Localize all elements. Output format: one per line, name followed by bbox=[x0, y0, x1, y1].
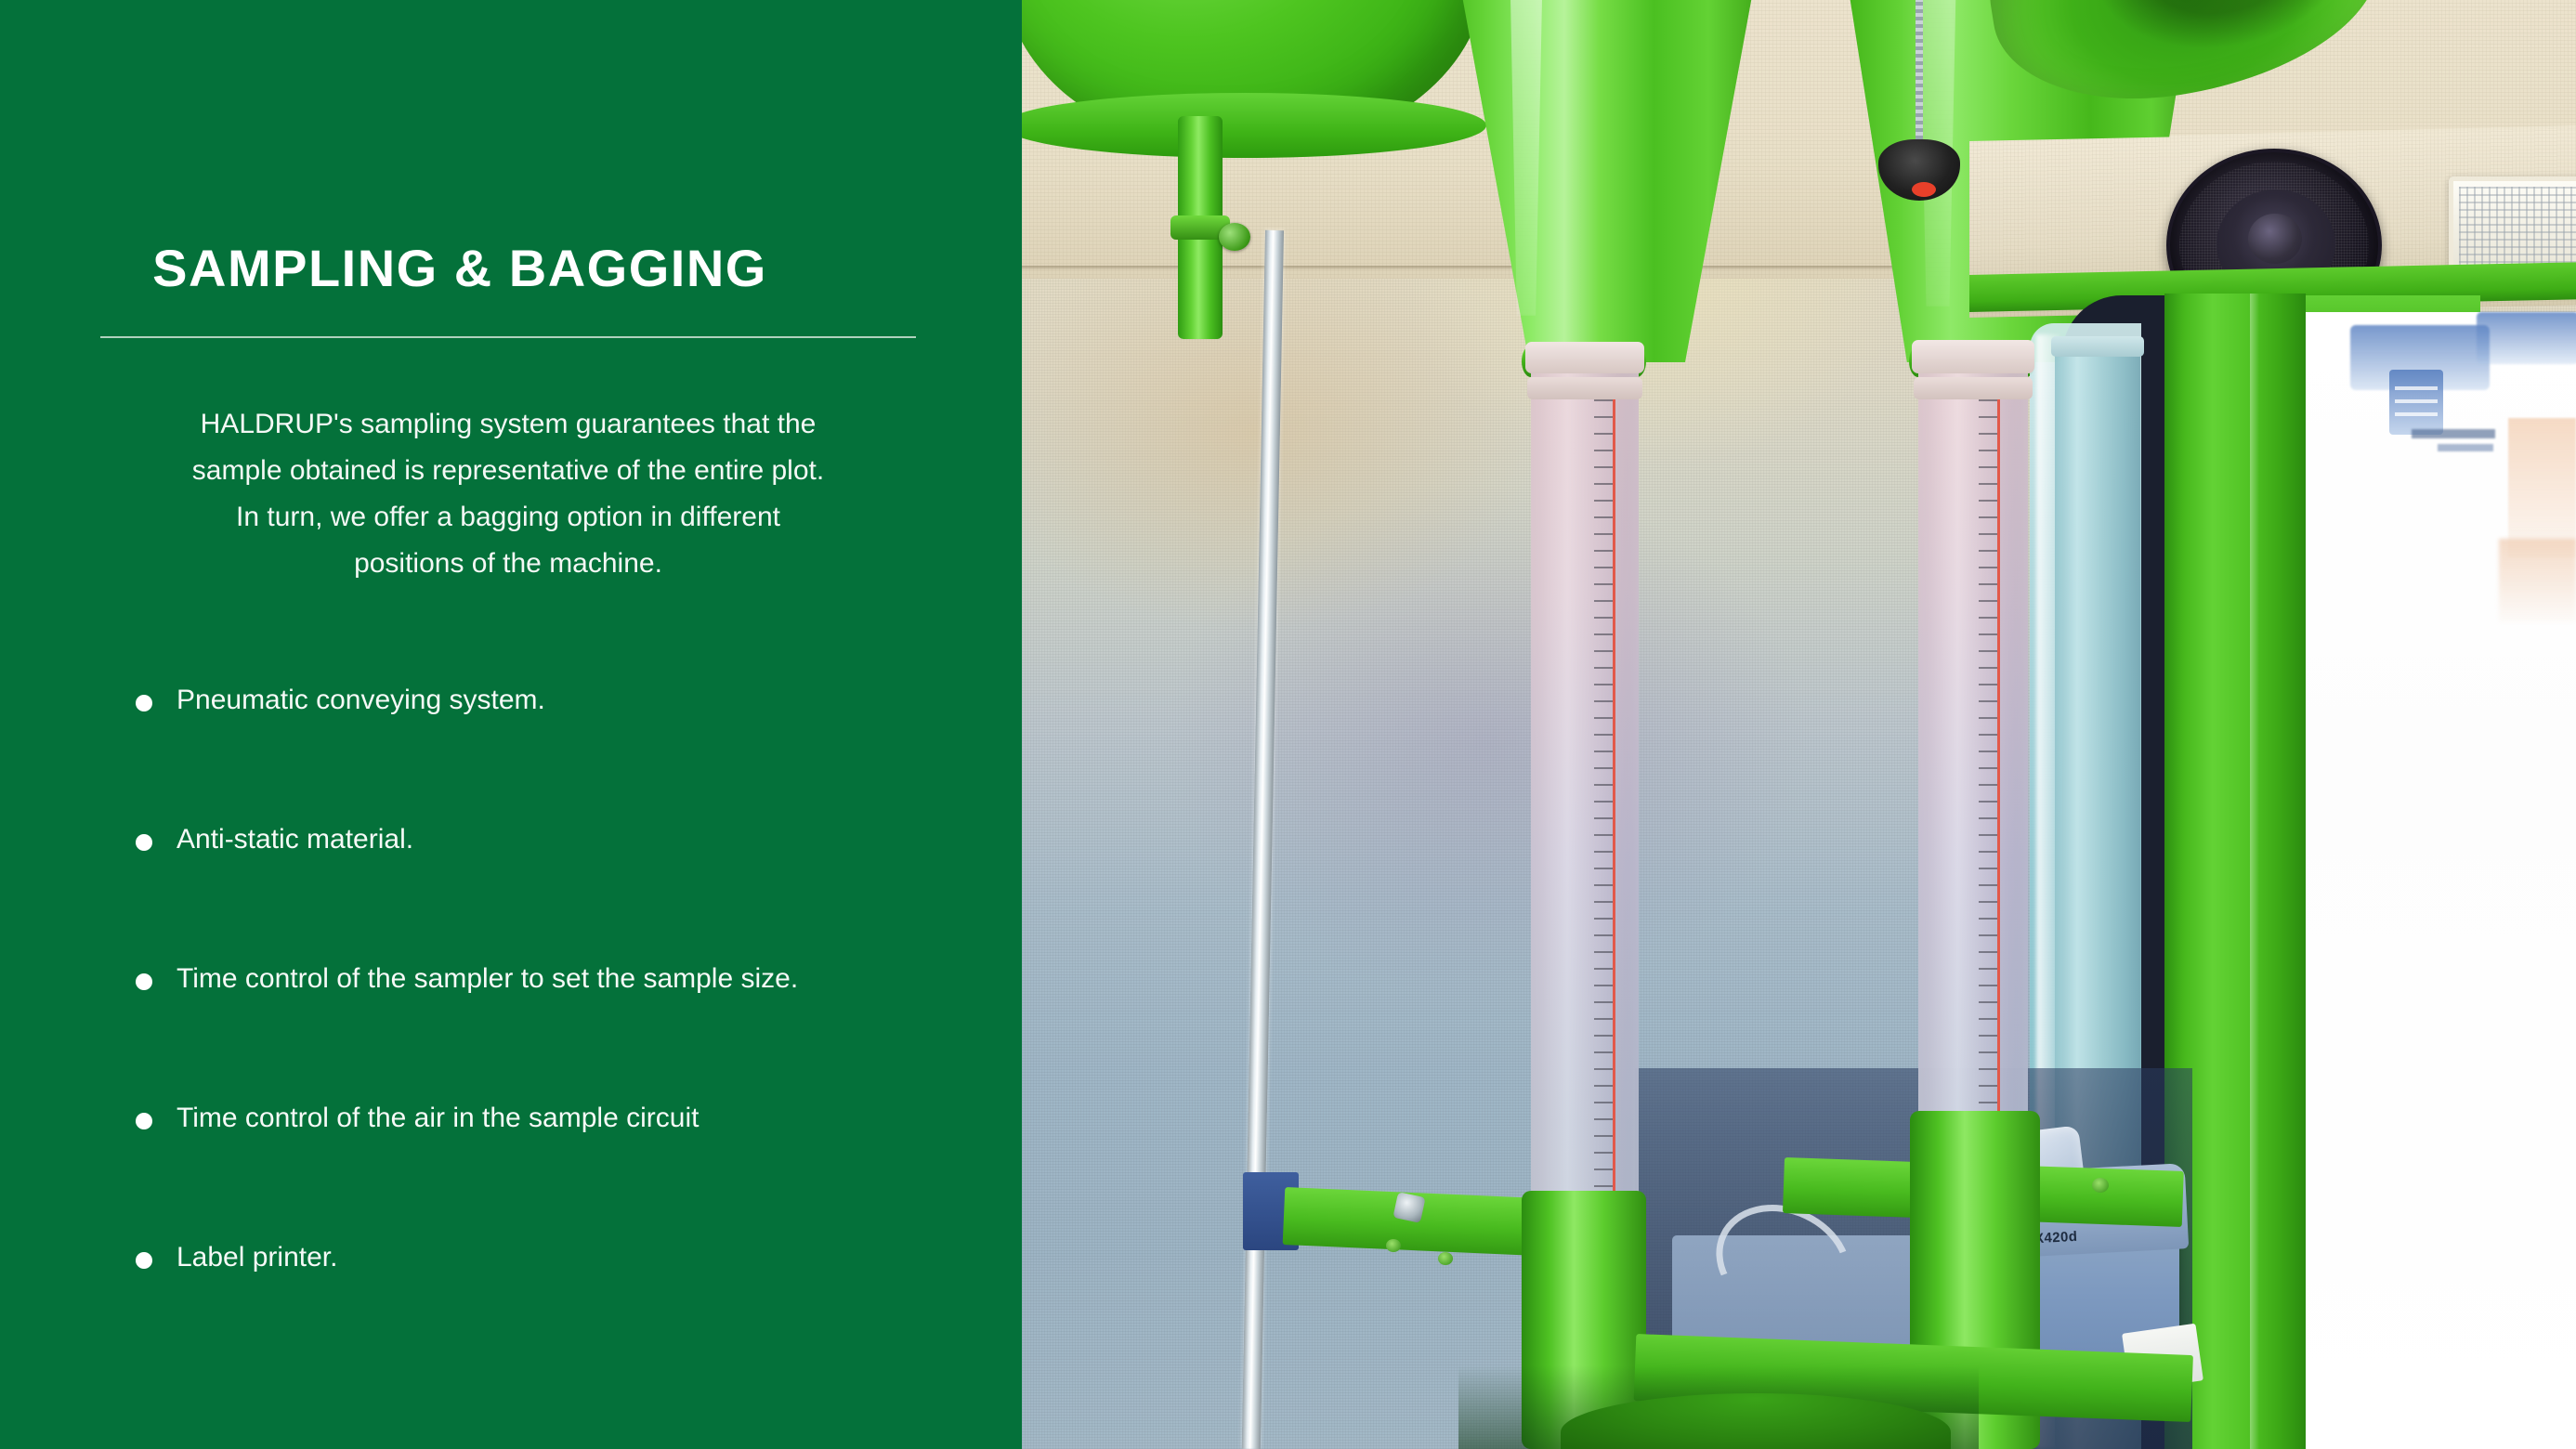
exterior-rail bbox=[2438, 444, 2493, 451]
bracket-hole bbox=[2092, 1178, 2109, 1193]
exterior-machinery bbox=[2389, 370, 2443, 435]
list-item: Anti-static material. bbox=[123, 822, 996, 961]
feature-list: Pneumatic conveying system. Anti-static … bbox=[123, 683, 996, 1379]
sample-tube-right-collar bbox=[1914, 377, 2033, 399]
paragraph-line-3: In turn, we offer a bagging option in di… bbox=[100, 494, 916, 541]
bracket-hole bbox=[1438, 1252, 1453, 1265]
exterior-rail bbox=[2412, 429, 2495, 438]
list-item-label: Time control of the air in the sample ci… bbox=[177, 1101, 699, 1136]
slide: SAMPLING & BAGGING HALDRUP's sampling sy… bbox=[0, 0, 2576, 1449]
teal-cylinder-cap bbox=[2051, 336, 2144, 357]
knob-indicator-icon bbox=[1912, 182, 1936, 197]
sample-tube-center-collar bbox=[1527, 377, 1642, 399]
bracket-bolt bbox=[1393, 1192, 1425, 1223]
bullet-dot-icon bbox=[136, 834, 152, 851]
exterior-machinery bbox=[2477, 312, 2576, 364]
list-item: Label printer. bbox=[123, 1240, 996, 1379]
sample-tube-center-collar bbox=[1525, 342, 1644, 373]
bullet-dot-icon bbox=[136, 973, 152, 990]
cab-pillar-highlight bbox=[2250, 294, 2259, 1449]
funnel-bolt-left bbox=[1219, 223, 1250, 251]
sample-tube-right-collar bbox=[1912, 340, 2034, 373]
content-panel: SAMPLING & BAGGING HALDRUP's sampling sy… bbox=[0, 0, 1022, 1449]
list-item: Pneumatic conveying system. bbox=[123, 683, 996, 822]
list-item-label: Pneumatic conveying system. bbox=[177, 683, 545, 718]
intro-paragraph: HALDRUP's sampling system guarantees tha… bbox=[100, 401, 916, 587]
list-item-label: Label printer. bbox=[177, 1240, 337, 1275]
paragraph-line-4: positions of the machine. bbox=[100, 541, 916, 587]
list-item: Time control of the sampler to set the s… bbox=[123, 961, 996, 1101]
bullet-dot-icon bbox=[136, 695, 152, 711]
paragraph-line-1: HALDRUP's sampling system guarantees tha… bbox=[100, 401, 916, 448]
bullet-dot-icon bbox=[136, 1252, 152, 1269]
list-item-label: Anti-static material. bbox=[177, 822, 413, 857]
exterior-building bbox=[2508, 418, 2576, 557]
page-title: SAMPLING & BAGGING bbox=[0, 238, 920, 298]
list-item: Time control of the air in the sample ci… bbox=[123, 1101, 996, 1240]
exterior-building bbox=[2499, 539, 2576, 622]
machine-photo: clarion GX420d bbox=[1022, 0, 2576, 1449]
funnel-lip-left bbox=[1022, 93, 1486, 158]
title-divider bbox=[100, 336, 916, 338]
paragraph-line-2: sample obtained is representative of the… bbox=[100, 448, 916, 494]
bracket-hole bbox=[1386, 1239, 1401, 1252]
speaker-dust-cap bbox=[2248, 214, 2302, 264]
control-cable bbox=[1916, 0, 1923, 149]
bullet-dot-icon bbox=[136, 1113, 152, 1129]
list-item-label: Time control of the sampler to set the s… bbox=[177, 961, 798, 997]
